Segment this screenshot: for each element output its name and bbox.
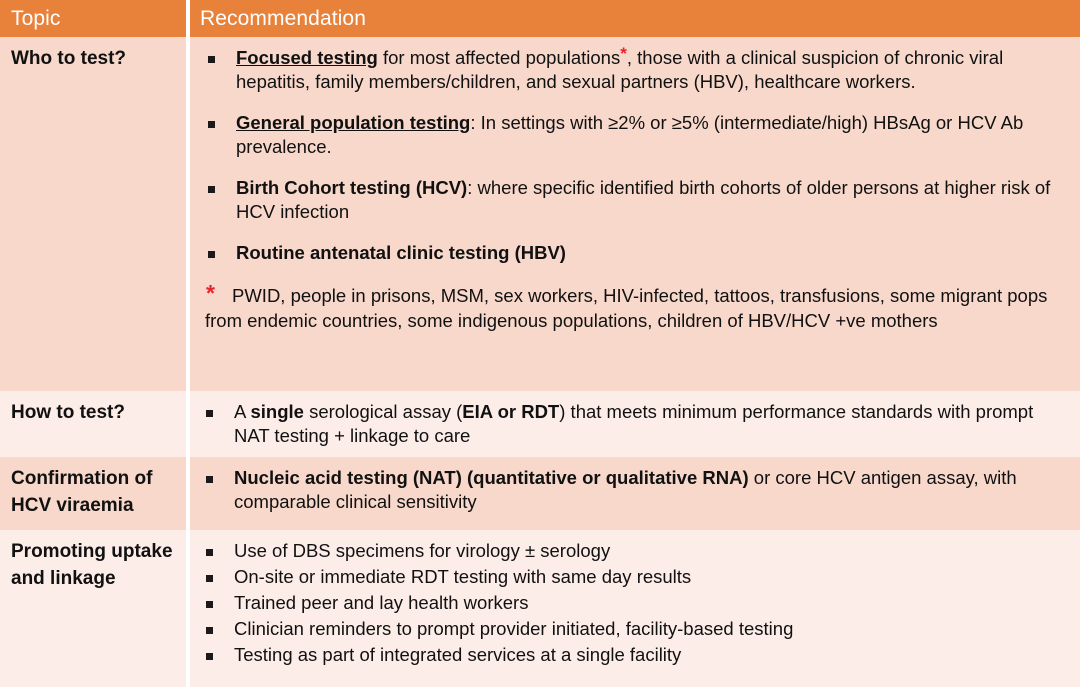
recommendation-list: A single serological assay (EIA or RDT) …	[200, 400, 1070, 448]
list-item: Nucleic acid testing (NAT) (quantitative…	[200, 466, 1070, 514]
bullet-bold-single: single	[250, 401, 303, 422]
recommendation-list: Focused testing for most affected popula…	[200, 46, 1070, 265]
topic-label: Promoting uptake and linkage	[11, 539, 178, 593]
row-topic-cell: Promoting uptake and linkage	[0, 530, 186, 687]
recommendation-list: Use of DBS specimens for virology ± sero…	[200, 539, 1070, 667]
footnote: *PWID, people in prisons, MSM, sex worke…	[200, 284, 1070, 333]
row-recommendation-cell: Nucleic acid testing (NAT) (quantitative…	[190, 457, 1080, 530]
bullet-lead: Focused testing	[236, 47, 378, 68]
bullet-lead: Birth Cohort testing (HCV)	[236, 177, 467, 198]
list-item: Focused testing for most affected popula…	[200, 46, 1070, 94]
list-item: Use of DBS specimens for virology ± sero…	[200, 539, 1070, 563]
row-topic-cell: Who to test?	[0, 37, 186, 391]
list-item: Testing as part of integrated services a…	[200, 643, 1070, 667]
topic-label: How to test?	[11, 400, 178, 427]
list-item: Routine antenatal clinic testing (HBV)	[200, 241, 1070, 265]
list-item: Clinician reminders to prompt provider i…	[200, 617, 1070, 641]
row-recommendation-cell: Use of DBS specimens for virology ± sero…	[190, 530, 1080, 687]
bullet-lead: Routine antenatal clinic testing (HBV)	[236, 242, 566, 263]
row-recommendation-cell: Focused testing for most affected popula…	[190, 37, 1080, 391]
bullet-lead: General population testing	[236, 112, 470, 133]
header-cell-topic: Topic	[0, 0, 186, 37]
row-recommendation-cell: A single serological assay (EIA or RDT) …	[190, 391, 1080, 457]
row-topic-cell: How to test?	[0, 391, 186, 457]
table-row: Who to test? Focused testing for most af…	[0, 37, 1080, 391]
list-item: Trained peer and lay health workers	[200, 591, 1070, 615]
table-row: Promoting uptake and linkage Use of DBS …	[0, 530, 1080, 687]
recommendations-table: Topic Recommendation Who to test? Focuse…	[0, 0, 1080, 687]
list-item: A single serological assay (EIA or RDT) …	[200, 400, 1070, 448]
list-item: Birth Cohort testing (HCV): where specif…	[200, 176, 1070, 224]
topic-label: Who to test?	[11, 46, 178, 73]
bullet-bold-assay: EIA or RDT	[462, 401, 559, 422]
table-row: Confirmation of HCV viraemia Nucleic aci…	[0, 457, 1080, 530]
bullet-mid: serological assay (	[304, 401, 462, 422]
footnote-asterisk-icon: *	[206, 282, 215, 305]
header-cell-recommendation: Recommendation	[190, 0, 1080, 37]
bullet-pre: A	[234, 401, 250, 422]
table-header-row: Topic Recommendation	[0, 0, 1080, 37]
topic-label: Confirmation of HCV viraemia	[11, 466, 178, 520]
table-row: How to test? A single serological assay …	[0, 391, 1080, 457]
recommendation-list: Nucleic acid testing (NAT) (quantitative…	[200, 466, 1070, 514]
footnote-text: PWID, people in prisons, MSM, sex worker…	[205, 285, 1047, 331]
bullet-rest-a: for most affected populations	[378, 47, 620, 68]
list-item: General population testing: In settings …	[200, 111, 1070, 159]
bullet-lead: Nucleic acid testing (NAT) (quantitative…	[234, 467, 749, 488]
row-topic-cell: Confirmation of HCV viraemia	[0, 457, 186, 530]
asterisk-marker: *	[620, 44, 627, 63]
list-item: On-site or immediate RDT testing with sa…	[200, 565, 1070, 589]
